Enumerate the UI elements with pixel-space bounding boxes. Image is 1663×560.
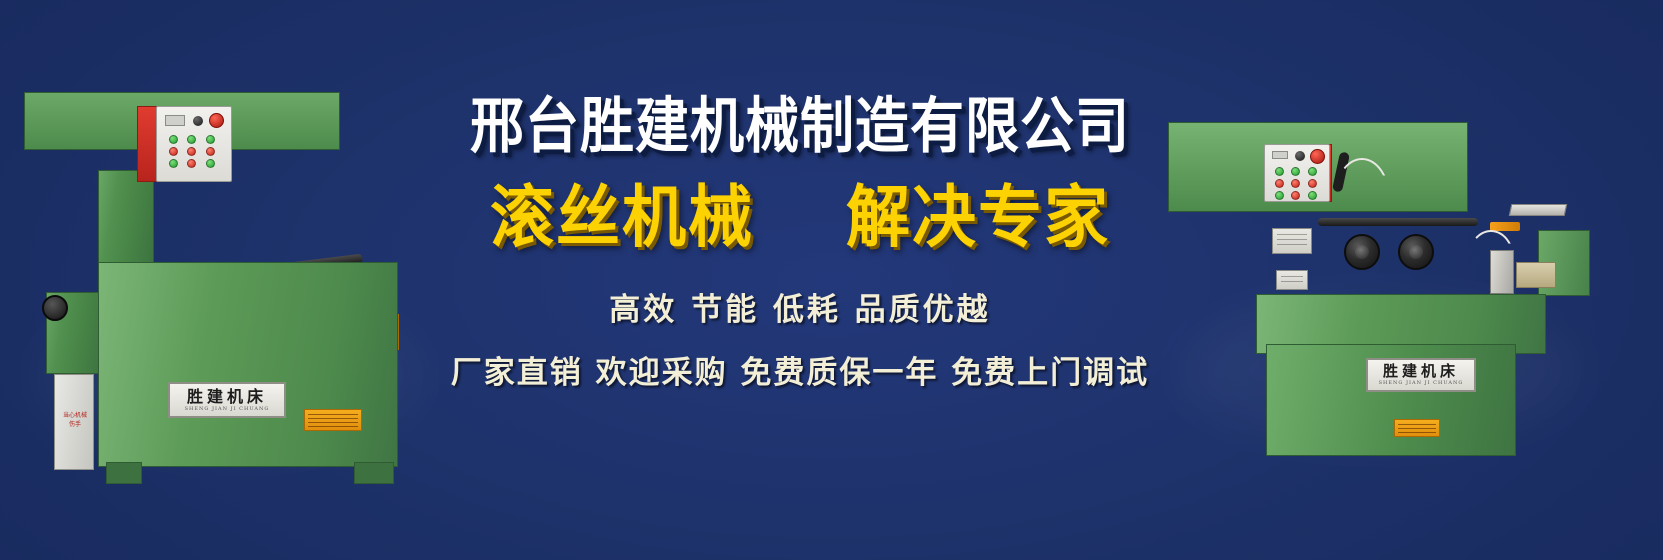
- panel-button-1-3-icon: [206, 135, 215, 144]
- machine-right-emergency-stop-icon: [1310, 149, 1325, 164]
- machine-left-warning-plate-front: [304, 409, 362, 431]
- machine-right-brand-plate: 胜建机床 SHENG JIAN JI CHUANG: [1366, 358, 1476, 392]
- machine-left-electrical-cabinet: 当心机械伤手: [54, 374, 94, 470]
- slogan-row: 滚丝机械 解决专家: [400, 186, 1200, 250]
- panel-button-3-2-icon: [1291, 191, 1300, 200]
- machine-right-brand-plate-text: 胜建机床: [1383, 364, 1459, 379]
- machine-left-button-grid: [169, 135, 221, 168]
- machine-right-brass-plate: [1516, 262, 1556, 288]
- machine-right-feed-tray: [1509, 204, 1568, 216]
- machine-left-pulley-icon: [42, 295, 68, 321]
- panel-button-1-2-icon: [1291, 167, 1300, 176]
- company-name-heading: 邢台胜建机械制造有限公司: [400, 95, 1200, 158]
- machine-left-brand-plate-text: 胜建机床: [187, 389, 267, 405]
- machine-left-main-body: [98, 262, 398, 467]
- panel-button-3-2-icon: [187, 159, 196, 168]
- machine-right-brand-plate-pinyin: SHENG JIAN JI CHUANG: [1379, 381, 1464, 386]
- panel-button-1-3-icon: [1308, 167, 1317, 176]
- panel-button-3-3-icon: [206, 159, 215, 168]
- panel-button-1-2-icon: [187, 135, 196, 144]
- panel-button-3-1-icon: [1275, 191, 1284, 200]
- machine-left-brand-plate-pinyin: SHENG JIAN JI CHUANG: [185, 407, 270, 412]
- panel-button-2-2-icon: [1291, 179, 1300, 188]
- machine-right-drive-shaft: [1318, 218, 1478, 226]
- machine-right-control-panel: [1264, 144, 1330, 202]
- machine-right-display-meter: [1272, 151, 1288, 159]
- promise-line: 厂家直销 欢迎采购 免费质保一年 免费上门调试: [400, 347, 1200, 392]
- panel-button-2-1-icon: [1275, 179, 1284, 188]
- machine-right-roller-head-2: [1398, 234, 1434, 270]
- machine-left-cabinet-label: 当心机械伤手: [61, 411, 89, 433]
- panel-button-1-1-icon: [1275, 167, 1284, 176]
- banner-text-block: 邢台胜建机械制造有限公司 滚丝机械 解决专家 高效 节能 低耗 品质优越 厂家直…: [400, 95, 1200, 435]
- machine-right-selector-knob: [1295, 151, 1305, 161]
- machine-right-spec-plate-2: [1276, 270, 1308, 290]
- machine-left-control-panel: [156, 106, 232, 182]
- machine-right-roller-head-1: [1344, 234, 1380, 270]
- panel-button-2-1-icon: [169, 147, 178, 156]
- machine-left-column: [98, 170, 154, 275]
- panel-button-3-3-icon: [1308, 191, 1317, 200]
- machine-left-panel-red-edge: [137, 106, 157, 182]
- machine-right-button-grid: [1275, 167, 1321, 200]
- panel-button-2-3-icon: [1308, 179, 1317, 188]
- machine-right-spec-plate: [1272, 228, 1312, 254]
- panel-button-2-3-icon: [206, 147, 215, 156]
- slogan-left: 滚丝机械: [490, 184, 754, 252]
- machine-left-display-meter: [165, 115, 185, 126]
- panel-button-1-1-icon: [169, 135, 178, 144]
- promotional-banner: 胜建机床 SHENG JIAN JI CHUANG 当心机械伤手: [0, 0, 1663, 560]
- machine-left-foot-right: [354, 462, 394, 484]
- machine-left-emergency-stop-icon: [209, 113, 224, 128]
- machine-right-image: 胜建机床 SHENG JIAN JI CHUANG: [1168, 122, 1588, 462]
- machine-left-selector-knob: [193, 116, 203, 126]
- machine-left-brand-plate: 胜建机床 SHENG JIAN JI CHUANG: [168, 382, 286, 418]
- panel-button-2-2-icon: [187, 147, 196, 156]
- slogan-right: 解决专家: [846, 184, 1110, 252]
- machine-left-image: 胜建机床 SHENG JIAN JI CHUANG 当心机械伤手: [24, 92, 424, 472]
- panel-button-3-1-icon: [169, 159, 178, 168]
- machine-right-cable-2: [1468, 230, 1514, 258]
- feature-line: 高效 节能 低耗 品质优越: [400, 284, 1200, 329]
- machine-right-warning-plate: [1394, 419, 1440, 437]
- machine-left-foot-left: [106, 462, 142, 484]
